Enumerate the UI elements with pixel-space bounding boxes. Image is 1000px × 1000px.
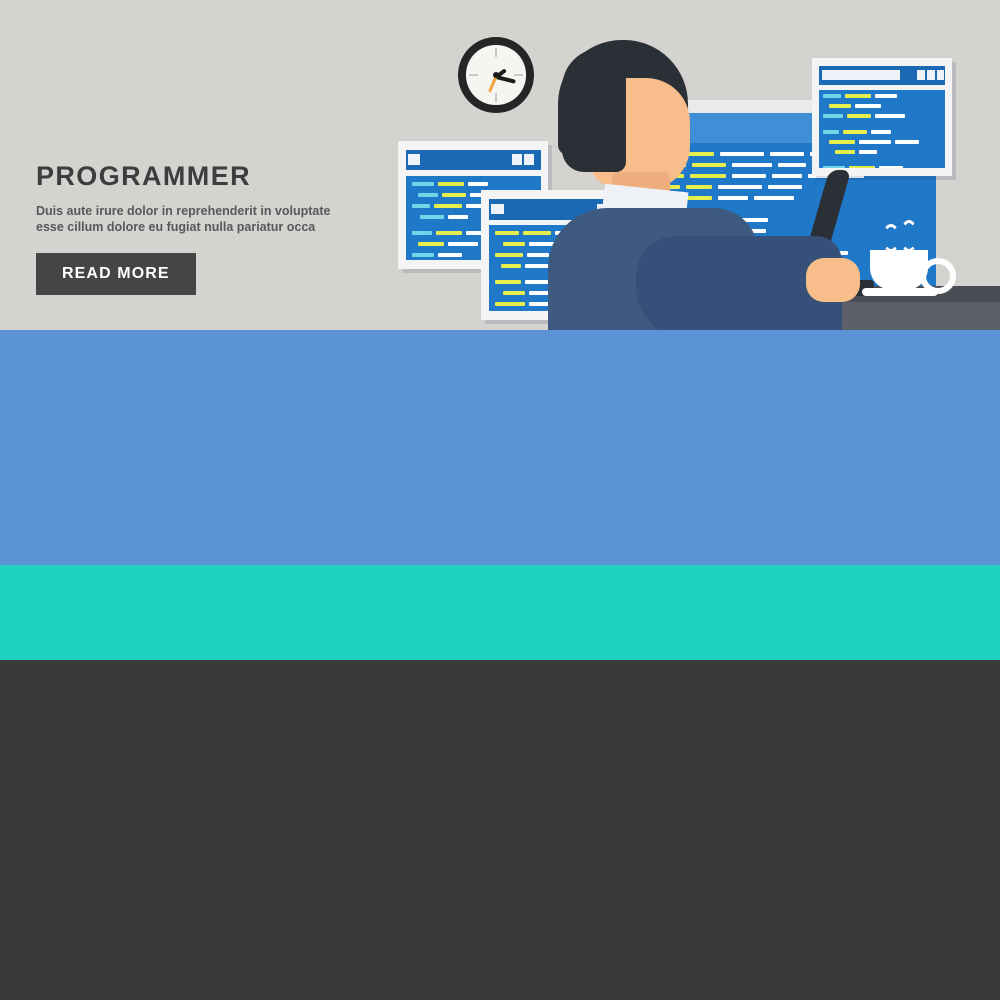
cup-body — [870, 250, 928, 290]
steam-icon — [900, 220, 918, 252]
steam-icon — [882, 224, 900, 252]
window-code-area — [819, 90, 945, 168]
banner-programming-challenge: PROGRAMMING CHALLENGE Duis aute irure do… — [0, 330, 1000, 660]
banner-set: PROGRAMMER Duis aute irure dolor in repr… — [0, 0, 1000, 1000]
person-hand — [806, 258, 860, 302]
banner-1-subtext: Duis aute irure dolor in reprehenderit i… — [36, 203, 331, 235]
code-window-upper-right — [812, 58, 952, 176]
window-titlebar — [406, 150, 541, 170]
person-hair-front — [562, 48, 626, 172]
clock-face — [466, 45, 525, 104]
clock-second-hand — [488, 76, 497, 93]
read-more-button-1[interactable]: READ MORE — [36, 253, 196, 295]
floor — [0, 565, 1000, 660]
page-title: PROGRAMMER — [36, 163, 331, 190]
banner-programmer: PROGRAMMER Duis aute irure dolor in repr… — [0, 0, 1000, 330]
banner-programming: </CODE> PHP XML JAVA CSS C++ DELPHI CMS — [0, 660, 1000, 1000]
wall-clock-icon — [458, 37, 534, 113]
window-titlebar — [819, 66, 945, 85]
cup-saucer — [862, 288, 938, 296]
banner-1-copy: PROGRAMMER Duis aute irure dolor in repr… — [36, 163, 331, 295]
